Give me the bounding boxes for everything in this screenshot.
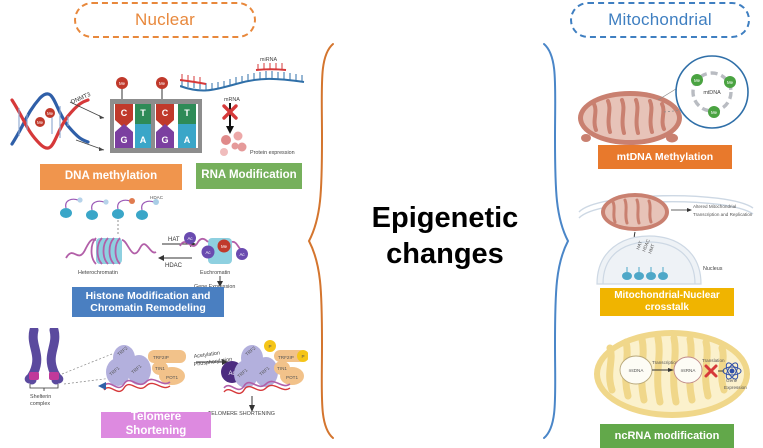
caption-rna-modification-label: RNA Modification: [201, 169, 296, 183]
svg-text:Me: Me: [221, 244, 228, 249]
caption-rna-modification: RNA Modification: [196, 163, 302, 189]
mtdna-label: mtDNA: [703, 90, 721, 96]
telomere-shortening-outcome: TELOMERE SHORTENING: [208, 411, 275, 416]
mtdna-label: mtDNA: [629, 368, 645, 373]
panel-histone-modification: HDAC Heterochromatin: [52, 196, 248, 293]
caption-mtdna-methylation: mtDNA Methylation: [598, 145, 732, 169]
svg-text:Me: Me: [159, 81, 166, 86]
svg-text:T: T: [140, 108, 146, 118]
panel-telomere-shortening: Shelterin complex TRF2 TRF1 TRF1 TRF2IP …: [20, 328, 308, 421]
header-pill-mitochondrial-label: Mitochondrial: [608, 10, 712, 30]
svg-text:Me: Me: [727, 80, 734, 85]
nucleus-label: Nucleus: [703, 266, 723, 272]
header-pill-mitochondrial: Mitochondrial: [570, 2, 750, 38]
page-title: Epigenetic changes: [345, 200, 545, 273]
caption-mitochondrial-nuclear-crosstalk: Mitochondrial-Nuclear crosstalk: [600, 288, 734, 316]
header-pill-nuclear: Nuclear: [74, 2, 256, 38]
free-histones: HDAC: [60, 196, 164, 220]
svg-text:TIN1: TIN1: [155, 366, 165, 371]
svg-text:Ac: Ac: [239, 252, 245, 257]
svg-text:Ac: Ac: [205, 250, 211, 255]
caption-telomere-shortening-label: Telomere Shortening: [101, 411, 211, 438]
svg-text:POT1: POT1: [286, 375, 298, 380]
shelterin-complex-modified: Ac TRF2 TRF1 TRF1 TRF2IP TIN1 POT1 P P: [221, 340, 308, 393]
caption-histone-line1: Histone Modification and: [86, 290, 211, 302]
transcription-label: Transcription: [652, 360, 679, 365]
svg-text:Me: Me: [37, 120, 44, 125]
svg-text:TRF2IP: TRF2IP: [153, 355, 169, 360]
caption-dna-methylation-label: DNA methylation: [65, 170, 157, 184]
caption-histone-modification: Histone Modification and Chromatin Remod…: [72, 287, 224, 317]
altered-transcription-line1: Altered Mitochondrial: [693, 204, 736, 209]
svg-text:C: C: [162, 108, 169, 118]
panel-ncrna-modification: mtDNA Transcription mtRNA Translation: [592, 326, 752, 427]
svg-text:P: P: [268, 344, 271, 349]
hat-label: HAT: [168, 237, 180, 243]
mirna-label: miRNA: [260, 57, 277, 63]
caption-mtdna-methylation-label: mtDNA Methylation: [617, 151, 713, 163]
svg-text:Me: Me: [711, 110, 718, 115]
caption-ncrna-modification-label: ncRNA modification: [615, 430, 720, 443]
panel-rna-modification: miRNA mRNA Protein expression: [180, 56, 312, 166]
svg-text:Me: Me: [694, 78, 701, 83]
altered-transcription-line2: Transcription and Replication: [693, 212, 753, 217]
euchromatin-icon: Ac Ac Me Ac: [180, 232, 248, 264]
page-title-line1: Epigenetic: [345, 200, 545, 236]
svg-text:C: C: [121, 108, 128, 118]
header-pill-nuclear-label: Nuclear: [135, 10, 195, 30]
mrna-label: mRNA: [224, 97, 240, 103]
svg-text:Me: Me: [119, 81, 126, 86]
protein-dots: [220, 132, 247, 157]
svg-text:Ac: Ac: [187, 236, 193, 241]
svg-text:Me: Me: [47, 111, 54, 116]
svg-text:G: G: [161, 135, 168, 145]
translation-label: Translation: [702, 358, 725, 363]
panel-mtdna-methylation: mtDNA Me Me Me: [572, 54, 754, 151]
caption-ncrna-modification: ncRNA modification: [600, 424, 734, 448]
caption-crosstalk-line1: Mitochondrial-Nuclear: [614, 290, 720, 302]
svg-text:G: G: [120, 135, 127, 145]
caption-telomere-shortening: Telomere Shortening: [101, 412, 211, 438]
svg-text:HDAC: HDAC: [150, 196, 164, 200]
mitochondrion-icon: [601, 193, 669, 231]
hdac-label: HDAC: [165, 263, 183, 269]
caption-histone-line2: Chromatin Remodeling: [86, 302, 211, 314]
svg-text:A: A: [140, 135, 147, 145]
chromosome-icon: [29, 330, 59, 391]
euchromatin-label: Euchromatin: [200, 270, 230, 276]
gene-expression-line2: Expression: [724, 385, 747, 390]
diagram-canvas: Nuclear Mitochondrial Epigenetic changes: [0, 0, 763, 448]
caption-crosstalk-line2: crosstalk: [614, 302, 720, 314]
page-title-line2: changes: [345, 236, 545, 272]
mtrna-label: mtRNA: [681, 368, 697, 373]
svg-text:TRF2IP: TRF2IP: [278, 355, 294, 360]
shelterin-complex-line1: Shelterin: [30, 394, 51, 400]
svg-text:POT1: POT1: [166, 375, 178, 380]
panel-mitochondrial-nuclear-crosstalk: Altered Mitochondrial Transcription and …: [577, 190, 755, 291]
svg-text:P: P: [301, 354, 304, 359]
gene-expression-line1: Gene: [726, 378, 738, 383]
mitochondrion-icon: [578, 91, 682, 145]
svg-text:TIN1: TIN1: [277, 366, 287, 371]
protein-expression-label: Protein expression: [250, 150, 295, 156]
caption-dna-methylation: DNA methylation: [40, 164, 182, 190]
heterochromatin-label: Heterochromatin: [78, 270, 118, 276]
shelterin-complex-normal: TRF2 TRF1 TRF1 TRF2IP TIN1 POT1: [98, 345, 186, 391]
panel-dna-methylation: Me Me DNMT3 Me Me: [8, 78, 188, 171]
heterochromatin-icon: [66, 238, 156, 264]
shelterin-complex-line2: complex: [30, 401, 50, 407]
